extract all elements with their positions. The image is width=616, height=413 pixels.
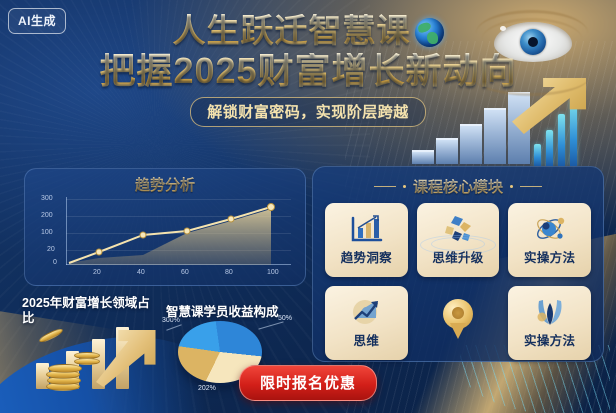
headline-row-2: 把握2025财富增长新动向 <box>0 47 616 89</box>
tagline-pill: 解锁财富密码，实现阶层跨越 <box>190 97 426 127</box>
module-label: 实操方法 <box>524 330 575 349</box>
line-chart-svg <box>39 195 293 281</box>
modules-grid: 趋势洞察 思维升级 <box>325 203 591 360</box>
coin-stack <box>46 361 86 391</box>
line-chart: 300 200 100 20 0 20 40 60 80 100 <box>39 195 293 281</box>
headline-block: 人生跃迁智慧课 把握2025财富增长新动向 解锁财富密码，实现阶层跨越 <box>0 14 616 127</box>
dot-right <box>510 185 513 188</box>
cta-button[interactable]: 限时报名优惠 <box>239 365 377 401</box>
page-title: 人生跃迁智慧课 <box>173 14 411 47</box>
divider-right <box>520 186 542 187</box>
divider-left <box>374 186 396 187</box>
ai-generated-badge: AI生成 <box>8 8 66 34</box>
modules-header: 课程核心模块 <box>313 176 603 197</box>
dot-left <box>403 185 406 188</box>
module-label: 实操方法 <box>524 247 575 266</box>
location-pin-icon <box>443 299 473 339</box>
trend-panel-title: 趋势分析 <box>25 169 305 195</box>
pie-chart-caption: 智慧课学员收益构成 <box>166 305 306 321</box>
globe-icon <box>415 18 444 47</box>
pie-label-bottom: 202% <box>198 385 216 392</box>
module-card-practical-method[interactable]: 实操方法 <box>508 203 591 277</box>
modules-title: 课程核心模块 <box>413 176 503 197</box>
page-subtitle-main: 把握2025财富增长新动向 <box>99 53 516 89</box>
bar-chart-up-icon <box>349 214 383 244</box>
trend-analysis-panel: 趋势分析 300 200 100 20 0 20 40 60 80 100 <box>24 168 306 286</box>
core-modules-panel: 课程核心模块 趋势洞察 <box>312 166 604 362</box>
trend-arrow-circle-icon <box>349 297 383 327</box>
module-card-location[interactable] <box>417 286 500 360</box>
module-label: 思维 <box>354 330 380 349</box>
headline-row-1: 人生跃迁智慧课 <box>0 14 616 47</box>
module-card-mindset[interactable]: 思维 <box>325 286 408 360</box>
atom-orbit-icon <box>533 214 567 244</box>
left-chart-caption: 2025年财富增长领域占比 <box>22 296 150 327</box>
poster-canvas: AI生成 人生跃迁智慧课 把握2025财富增长新动向 解锁财富密码， <box>0 0 616 413</box>
module-card-practical-method-2[interactable]: 实操方法 <box>508 286 591 360</box>
module-label: 趋势洞察 <box>341 247 392 266</box>
leaf-swoosh-icon <box>533 297 567 327</box>
module-card-trend-insight[interactable]: 趋势洞察 <box>325 203 408 277</box>
